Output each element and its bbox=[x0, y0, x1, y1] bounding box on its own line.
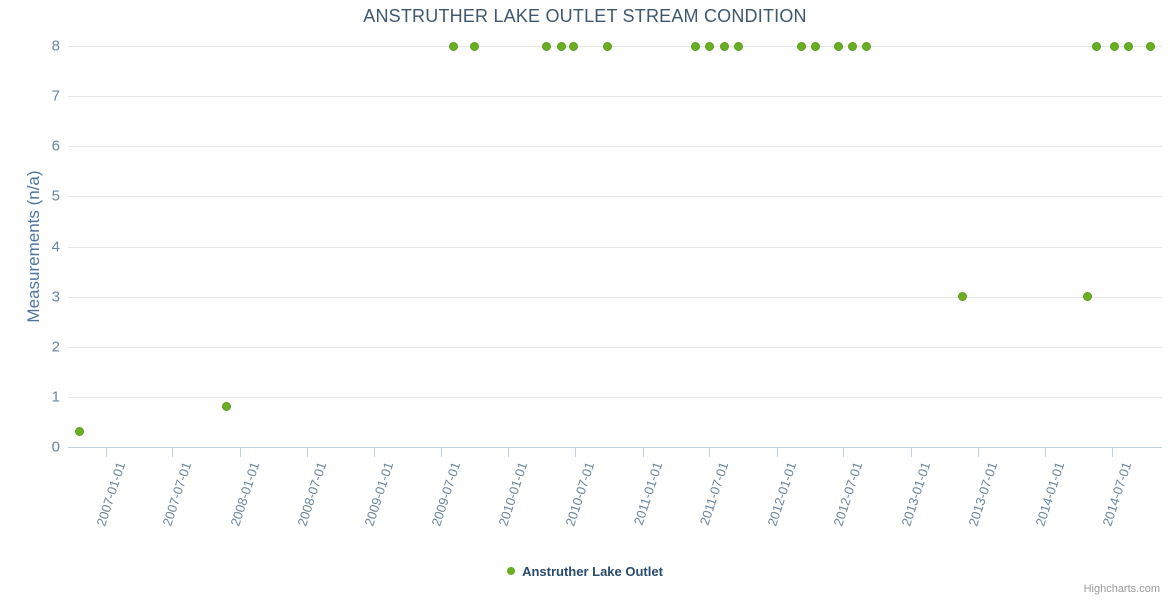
y-axis-tick-label: 5 bbox=[16, 188, 68, 205]
x-axis-tick-mark bbox=[709, 447, 710, 457]
y-axis-tick-label: 0 bbox=[16, 439, 68, 456]
x-axis-tick-mark bbox=[374, 447, 375, 457]
x-axis-tick-label: 2012-07-01 bbox=[821, 460, 866, 560]
x-axis-tick-label: 2010-07-01 bbox=[552, 460, 597, 560]
data-point-marker[interactable] bbox=[222, 402, 231, 411]
y-gridline bbox=[68, 46, 1162, 47]
x-axis-tick-mark bbox=[978, 447, 979, 457]
x-axis-tick-mark bbox=[508, 447, 509, 457]
data-point-marker[interactable] bbox=[705, 42, 714, 51]
y-axis-tick-label: 3 bbox=[16, 288, 68, 305]
data-point-marker[interactable] bbox=[1110, 42, 1119, 51]
x-axis-tick-label: 2013-07-01 bbox=[955, 460, 1000, 560]
plot-area bbox=[68, 46, 1162, 447]
x-axis-tick-label: 2008-07-01 bbox=[284, 460, 329, 560]
legend-item-label: Anstruther Lake Outlet bbox=[522, 564, 663, 579]
data-point-marker[interactable] bbox=[811, 42, 820, 51]
x-axis-tick-mark bbox=[843, 447, 844, 457]
x-axis-tick-mark bbox=[1045, 447, 1046, 457]
y-gridline bbox=[68, 347, 1162, 348]
x-axis-tick-label: 2010-01-01 bbox=[486, 460, 531, 560]
y-axis-tick-label: 7 bbox=[16, 88, 68, 105]
x-axis-tick-mark bbox=[1112, 447, 1113, 457]
data-point-marker[interactable] bbox=[834, 42, 843, 51]
legend-marker-icon bbox=[507, 567, 515, 575]
y-axis-tick-label: 4 bbox=[16, 238, 68, 255]
data-point-marker[interactable] bbox=[691, 42, 700, 51]
x-axis-line bbox=[68, 447, 1162, 448]
x-axis-tick-label: 2011-07-01 bbox=[686, 460, 731, 560]
x-axis-tick-mark bbox=[777, 447, 778, 457]
x-axis-tick-mark bbox=[643, 447, 644, 457]
data-point-marker[interactable] bbox=[569, 42, 578, 51]
legend-item-anstruther-lake-outlet[interactable]: Anstruther Lake Outlet bbox=[507, 563, 663, 579]
x-axis-tick-mark bbox=[911, 447, 912, 457]
y-gridline bbox=[68, 96, 1162, 97]
x-axis-tick-label: 2013-01-01 bbox=[888, 460, 933, 560]
y-axis-tick-label: 1 bbox=[16, 388, 68, 405]
chart-title: ANSTRUTHER LAKE OUTLET STREAM CONDITION bbox=[0, 6, 1170, 27]
data-point-marker[interactable] bbox=[720, 42, 729, 51]
data-point-marker[interactable] bbox=[470, 42, 479, 51]
data-point-marker[interactable] bbox=[75, 427, 84, 436]
data-point-marker[interactable] bbox=[1083, 292, 1092, 301]
x-axis-tick-label: 2014-07-01 bbox=[1089, 460, 1134, 560]
data-point-marker[interactable] bbox=[1146, 42, 1155, 51]
x-axis-tick-mark bbox=[172, 447, 173, 457]
y-gridline bbox=[68, 397, 1162, 398]
data-point-marker[interactable] bbox=[848, 42, 857, 51]
data-point-marker[interactable] bbox=[449, 42, 458, 51]
x-axis-tick-label: 2007-01-01 bbox=[83, 460, 128, 560]
x-axis-tick-label: 2009-07-01 bbox=[418, 460, 463, 560]
data-point-marker[interactable] bbox=[797, 42, 806, 51]
y-gridline bbox=[68, 247, 1162, 248]
data-point-marker[interactable] bbox=[542, 42, 551, 51]
x-axis-tick-mark bbox=[575, 447, 576, 457]
data-point-marker[interactable] bbox=[862, 42, 871, 51]
data-point-marker[interactable] bbox=[1124, 42, 1133, 51]
x-axis-tick-label: 2012-01-01 bbox=[754, 460, 799, 560]
y-axis-tick-label: 8 bbox=[16, 38, 68, 55]
x-axis-tick-label: 2009-01-01 bbox=[351, 460, 396, 560]
y-axis-tick-label: 2 bbox=[16, 338, 68, 355]
highcharts-container: ANSTRUTHER LAKE OUTLET STREAM CONDITION … bbox=[0, 0, 1170, 600]
data-point-marker[interactable] bbox=[1092, 42, 1101, 51]
highcharts-credits[interactable]: Highcharts.com bbox=[1084, 583, 1160, 595]
data-point-marker[interactable] bbox=[557, 42, 566, 51]
data-point-marker[interactable] bbox=[734, 42, 743, 51]
x-axis-tick-label: 2011-01-01 bbox=[620, 460, 665, 560]
y-axis-tick-labels: 012345678 bbox=[0, 0, 68, 600]
data-point-marker[interactable] bbox=[958, 292, 967, 301]
y-axis-tick-label: 6 bbox=[16, 138, 68, 155]
y-gridline bbox=[68, 146, 1162, 147]
y-gridline bbox=[68, 297, 1162, 298]
x-axis-tick-mark bbox=[441, 447, 442, 457]
y-gridline bbox=[68, 196, 1162, 197]
x-axis-tick-mark bbox=[240, 447, 241, 457]
data-point-marker[interactable] bbox=[603, 42, 612, 51]
x-axis-tick-label: 2014-01-01 bbox=[1022, 460, 1067, 560]
x-axis-tick-mark bbox=[307, 447, 308, 457]
x-axis-tick-label: 2008-01-01 bbox=[217, 460, 262, 560]
x-axis-tick-label: 2007-07-01 bbox=[149, 460, 194, 560]
chart-legend: Anstruther Lake Outlet bbox=[0, 563, 1170, 579]
x-axis-tick-mark bbox=[106, 447, 107, 457]
